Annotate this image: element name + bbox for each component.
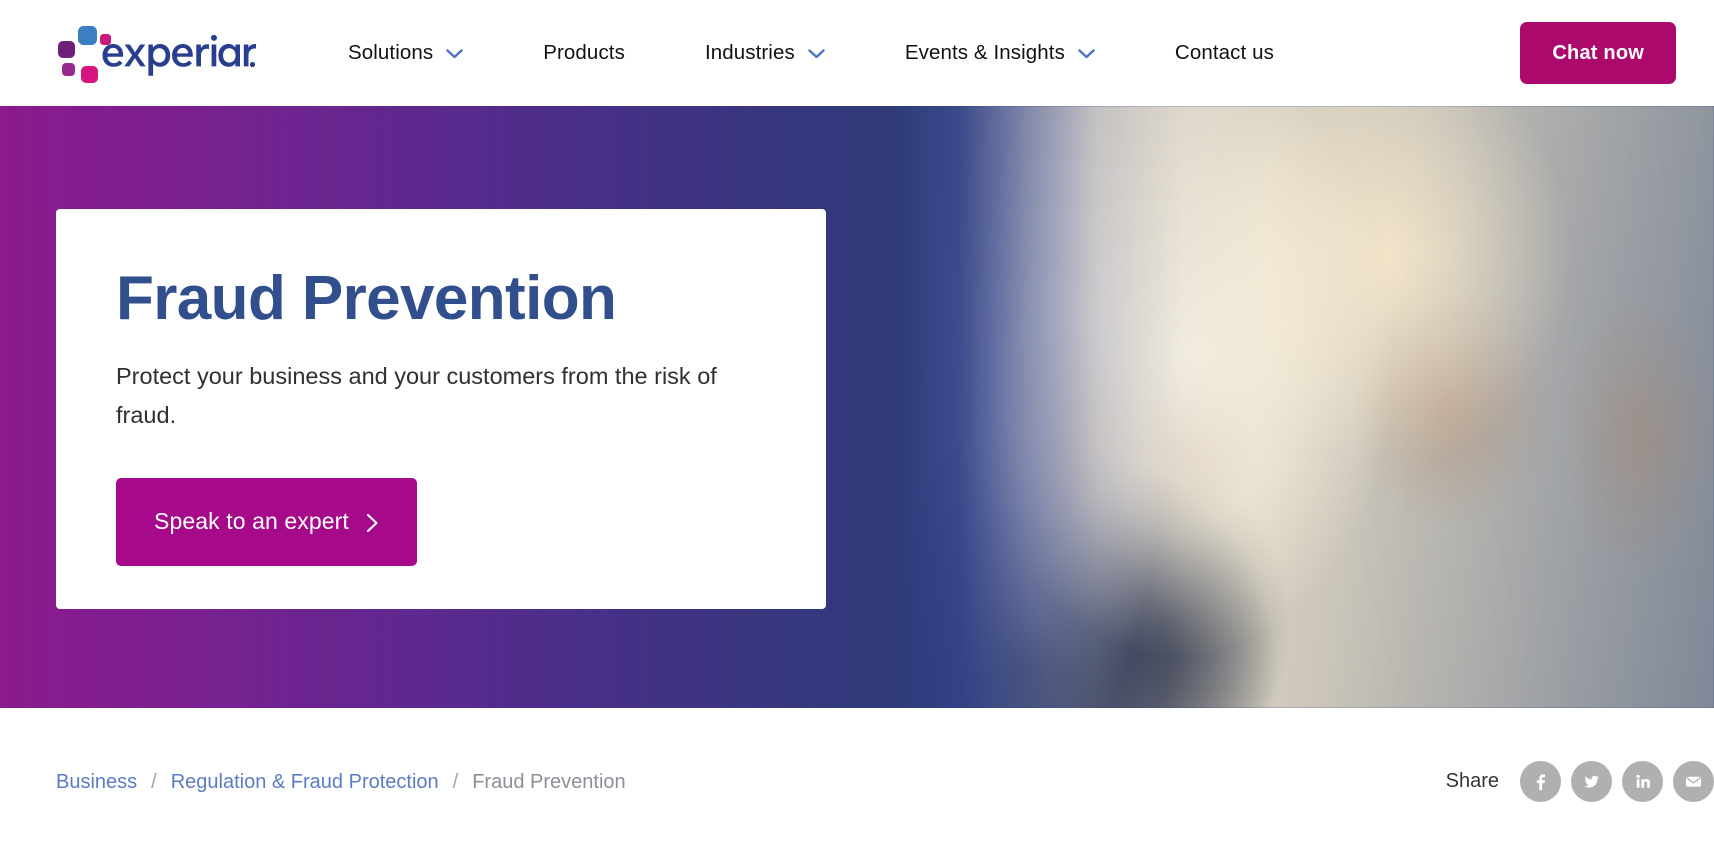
nav-item-industries[interactable]: Industries (705, 43, 825, 64)
breadcrumb: Business / Regulation & Fraud Protection… (56, 772, 626, 792)
nav-item-label: Events & Insights (905, 43, 1065, 64)
breadcrumb-item-current: Fraud Prevention (472, 772, 625, 792)
nav-item-label: Solutions (348, 43, 433, 64)
nav-item-label: Contact us (1175, 43, 1274, 64)
share-label: Share (1446, 770, 1499, 793)
email-icon[interactable] (1673, 761, 1714, 802)
linkedin-icon[interactable] (1622, 761, 1663, 802)
cta-label: Speak to an expert (154, 508, 349, 535)
breadcrumb-item-regulation-fraud-protection[interactable]: Regulation & Fraud Protection (171, 772, 439, 792)
main-navigation: Solutions Products Industries Events & I… (256, 0, 1478, 106)
speak-to-an-expert-button[interactable]: Speak to an expert (116, 478, 417, 566)
hero-subtitle: Protect your business and your customers… (116, 357, 756, 433)
nav-item-products[interactable]: Products (543, 43, 625, 64)
experian-logo[interactable] (56, 22, 256, 84)
chevron-right-icon (366, 513, 379, 533)
nav-item-contact-us[interactable]: Contact us (1175, 43, 1274, 64)
breadcrumb-separator: / (453, 772, 459, 792)
hero-banner: Fraud Prevention Protect your business a… (0, 106, 1714, 708)
share-icon-list (1520, 761, 1714, 802)
chevron-down-icon (446, 49, 463, 59)
breadcrumb-share-bar: Business / Regulation & Fraud Protection… (0, 708, 1714, 855)
twitter-icon[interactable] (1571, 761, 1612, 802)
page-root: Solutions Products Industries Events & I… (0, 0, 1714, 855)
chat-now-button[interactable]: Chat now (1520, 22, 1676, 84)
page-title: Fraud Prevention (116, 267, 766, 331)
share-section: Share (1446, 761, 1714, 802)
site-header: Solutions Products Industries Events & I… (0, 0, 1714, 106)
nav-item-label: Industries (705, 43, 795, 64)
nav-item-label: Products (543, 43, 625, 64)
breadcrumb-separator: / (151, 772, 157, 792)
chevron-down-icon (1078, 49, 1095, 59)
hero-content-card: Fraud Prevention Protect your business a… (56, 209, 826, 609)
breadcrumb-item-business[interactable]: Business (56, 772, 137, 792)
nav-item-events-and-insights[interactable]: Events & Insights (905, 43, 1095, 64)
nav-item-solutions[interactable]: Solutions (348, 43, 463, 64)
chevron-down-icon (808, 49, 825, 59)
facebook-icon[interactable] (1520, 761, 1561, 802)
